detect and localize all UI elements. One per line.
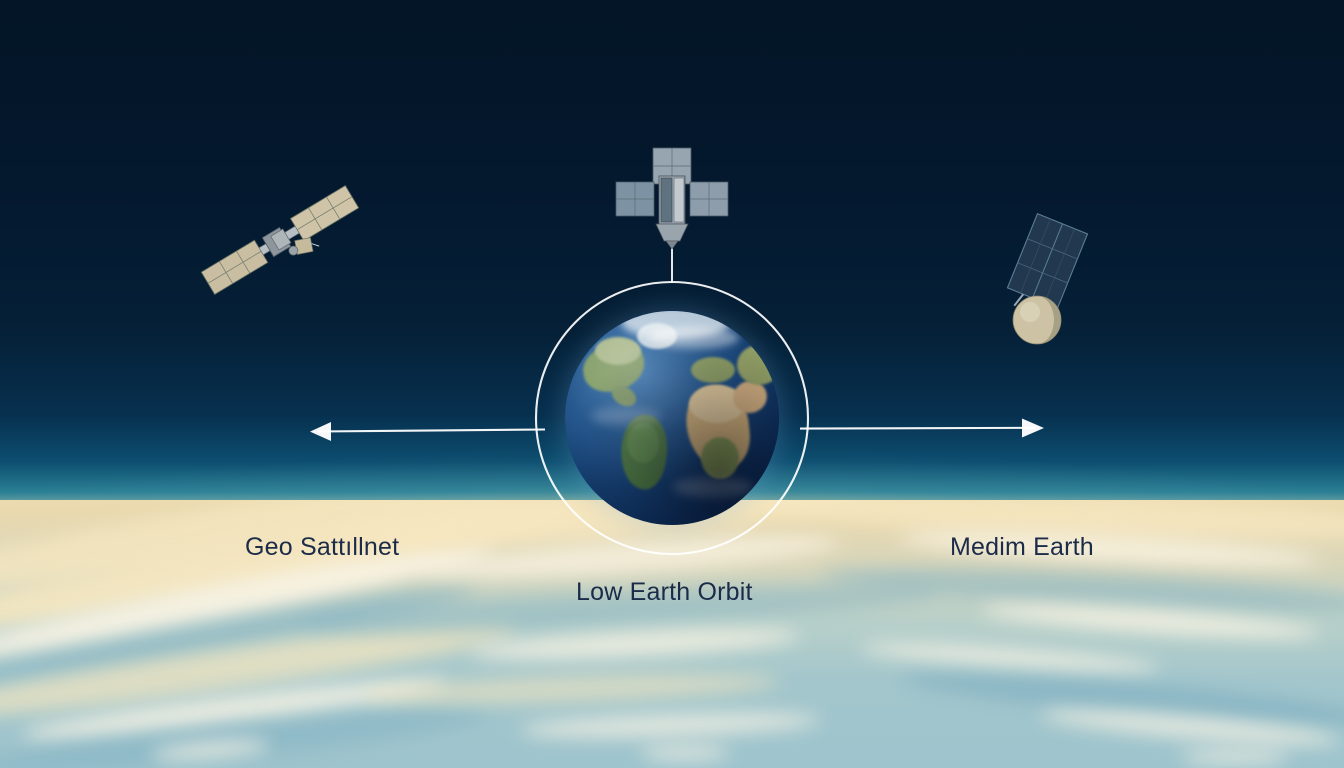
continent-asia — [737, 345, 779, 385]
cloud-speck — [640, 746, 730, 760]
earth-globe — [565, 311, 779, 525]
continent-north-america — [595, 337, 641, 365]
globe-cloud — [591, 407, 661, 425]
continent-europe — [691, 357, 735, 383]
globe-cloud — [649, 327, 739, 349]
satellite-orbit-diagram: Geo Sattıllnet Low Earth Orbit Medim Ear… — [0, 0, 1344, 768]
continent-south-america — [627, 423, 659, 463]
globe-cloud — [673, 477, 753, 497]
cloud-speck — [1180, 750, 1290, 764]
earth-globe-sphere — [565, 311, 779, 525]
label-geo-satellite: Geo Sattıllnet — [245, 533, 399, 562]
continent-africa-south — [701, 437, 739, 479]
earth-surface — [0, 500, 1344, 768]
label-low-earth-orbit: Low Earth Orbit — [576, 578, 753, 607]
label-medium-earth: Medim Earth — [950, 533, 1094, 562]
